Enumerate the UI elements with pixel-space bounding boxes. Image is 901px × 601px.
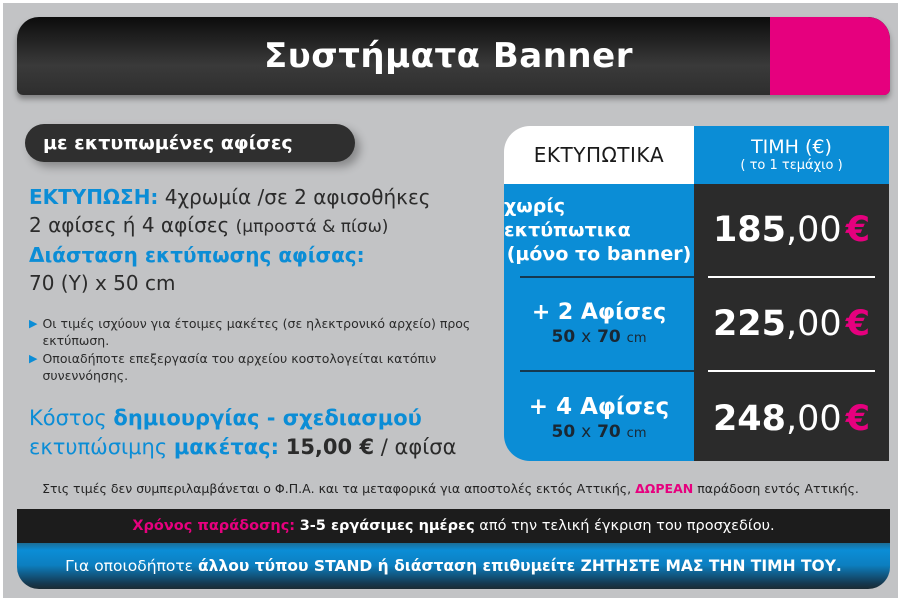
design-cost-block: Κόστος δημιουργίας - σχεδιασμού εκτυπώσι… — [29, 404, 499, 462]
title-bar: Συστήματα Banner — [17, 17, 890, 95]
table-row: χωρίς εκτύπωτικα (μόνο το banner) 185,00… — [504, 184, 889, 276]
design-cost-line-2: εκτυπώσιμης μακέτας: 15,00 € / αφίσα — [29, 433, 499, 462]
row-3-price-dec: ,00 — [786, 399, 842, 439]
row-2-price-int: 225 — [713, 304, 786, 344]
print-spec-line: ΕΚΤΥΠΩΣΗ: 4χρωμία /σε 2 αφισοθήκες — [29, 183, 499, 211]
row-2-size-x: x — [581, 327, 591, 347]
print-spec-value: 4χρωμία /σε 2 αφισοθήκες — [165, 185, 431, 209]
table-header-left: ΕΚΤΥΠΩΤΙΚΑ — [504, 126, 694, 184]
custom-request-bar: Για οποιοδήποτε άλλου τύπου STAND ή διάσ… — [17, 543, 890, 589]
vat-note-highlight: ΔΩΡΕΑΝ — [635, 481, 693, 496]
poster-count-line: 2 αφίσες ή 4 αφίσες (μπροστά & πίσω) — [29, 211, 499, 241]
row-2-currency: € — [846, 304, 870, 344]
poster-count-note: (μπροστά & πίσω) — [236, 217, 389, 237]
design-cost-prefix-2: εκτυπώσιμης — [29, 435, 174, 459]
delivery-time-value: 3-5 εργάσιμες ημέρες — [300, 518, 475, 534]
print-size-value: 70 (Υ) x 50 cm — [29, 271, 175, 295]
row-2-size-a: 50 — [552, 327, 576, 347]
triangle-bullet-icon: ▶ — [29, 350, 37, 367]
row-1-label-line1: χωρίς εκτύπωτικα — [504, 194, 694, 242]
list-item: ▶ Οποιαδήποτε επεξεργασία του αρχείου κο… — [29, 350, 499, 384]
page-title: Συστήματα Banner — [17, 17, 890, 95]
print-size-value-line: 70 (Υ) x 50 cm — [29, 269, 499, 297]
print-size-label-line: Διάσταση εκτύπωσης αφίσας: — [29, 241, 499, 269]
triangle-bullet-icon: ▶ — [29, 315, 37, 332]
row-3-price-int: 248 — [713, 399, 786, 439]
vat-note-part2: παράδοση εντός Αττικής. — [697, 481, 859, 496]
table-header-row: ΕΚΤΥΠΩΤΙΚΑ ΤΙΜΗ (€) ( το 1 τεμάχιο ) — [504, 126, 889, 184]
list-item: ▶ Οι τιμές ισχύουν για έτοιμες μακέτες (… — [29, 315, 499, 349]
design-cost-price: 15,00 € — [286, 435, 374, 459]
row-3-size-x: x — [581, 422, 591, 442]
delivery-time-bar: Χρόνος παράδοσης: 3-5 εργάσιμες ημέρες α… — [17, 509, 890, 543]
poster-count-value: 2 αφίσες ή 4 αφίσες — [29, 213, 229, 237]
table-row: + 2 Αφίσες 50 x 70 cm 225,00€ — [504, 278, 889, 370]
table-header-price-title: ΤΙΜΗ (€) — [751, 137, 832, 158]
row-1-label-cell: χωρίς εκτύπωτικα (μόνο το banner) — [504, 184, 694, 276]
price-card: Συστήματα Banner με εκτυπωμένες αφίσες Ε… — [0, 0, 901, 601]
table-header-price-sub: ( το 1 τεμάχιο ) — [740, 158, 842, 174]
custom-request-prefix: Για οποιοδήποτε — [65, 557, 193, 575]
row-2-price-cell: 225,00€ — [694, 278, 889, 370]
vat-note-part1: Στις τιμές δεν συμπεριλαμβάνεται ο Φ.Π.Α… — [42, 481, 631, 496]
row-2-size: 50 x 70 cm — [552, 326, 647, 350]
design-cost-unit: / αφίσα — [381, 435, 457, 459]
bullet-text: Οποιαδήποτε επεξεργασία του αρχείου κοστ… — [42, 350, 499, 384]
row-1-price-int: 185 — [713, 210, 786, 250]
left-content: ΕΚΤΥΠΩΣΗ: 4χρωμία /σε 2 αφισοθήκες 2 αφί… — [29, 183, 499, 462]
row-1-price: 185,00€ — [713, 210, 870, 250]
design-cost-line-1: Κόστος δημιουργίας - σχεδιασμού — [29, 404, 499, 433]
design-cost-prefix: Κόστος — [29, 406, 113, 430]
row-2-size-unit: cm — [627, 331, 647, 346]
row-3-price-cell: 248,00€ — [694, 372, 889, 461]
table-header-right: ΤΙΜΗ (€) ( το 1 τεμάχιο ) — [694, 126, 889, 184]
row-1-price-dec: ,00 — [786, 210, 842, 250]
row-2-label-line1: + 2 Αφίσες — [532, 299, 666, 326]
delivery-time-rest: από την τελική έγκριση του προσχεδίου. — [479, 518, 774, 534]
row-2-price-dec: ,00 — [786, 304, 842, 344]
row-3-currency: € — [846, 399, 870, 439]
row-3-label-cell: + 4 Αφίσες 50 x 70 cm — [504, 372, 694, 461]
row-3-size-unit: cm — [627, 426, 647, 441]
row-3-size-b: 70 — [597, 422, 621, 442]
row-3-size: 50 x 70 cm — [552, 421, 647, 445]
row-2-price: 225,00€ — [713, 304, 870, 344]
design-cost-emphasis-2: μακέτας: — [174, 435, 279, 459]
design-cost-emphasis: δημιουργίας - σχεδιασμού — [113, 406, 421, 430]
row-2-size-b: 70 — [597, 327, 621, 347]
delivery-time-label: Χρόνος παράδοσης: — [132, 518, 295, 534]
subtitle-pill: με εκτυπωμένες αφίσες — [25, 124, 355, 162]
row-3-label-line1: + 4 Αφίσες — [529, 393, 669, 421]
print-size-label: Διάσταση εκτύπωσης αφίσας: — [29, 243, 365, 267]
bullet-text: Οι τιμές ισχύουν για έτοιμες μακέτες (σε… — [42, 315, 499, 349]
row-1-currency: € — [846, 210, 870, 250]
subtitle-pill-label: με εκτυπωμένες αφίσες — [43, 132, 293, 154]
row-3-size-a: 50 — [552, 422, 576, 442]
table-row: + 4 Αφίσες 50 x 70 cm 248,00€ — [504, 372, 889, 461]
vat-note: Στις τιμές δεν συμπεριλαμβάνεται ο Φ.Π.Α… — [3, 481, 898, 496]
bullet-list: ▶ Οι τιμές ισχύουν για έτοιμες μακέτες (… — [29, 315, 499, 384]
row-1-label-line2: (μόνο το banner) — [507, 242, 692, 266]
row-1-price-cell: 185,00€ — [694, 184, 889, 276]
custom-request-message: άλλου τύπου STAND ή διάσταση επιθυμείτε … — [198, 557, 842, 575]
row-3-price: 248,00€ — [713, 399, 870, 439]
row-2-label-cell: + 2 Αφίσες 50 x 70 cm — [504, 278, 694, 370]
price-table: ΕΚΤΥΠΩΤΙΚΑ ΤΙΜΗ (€) ( το 1 τεμάχιο ) χωρ… — [504, 126, 889, 461]
print-spec-label: ΕΚΤΥΠΩΣΗ: — [29, 185, 158, 209]
